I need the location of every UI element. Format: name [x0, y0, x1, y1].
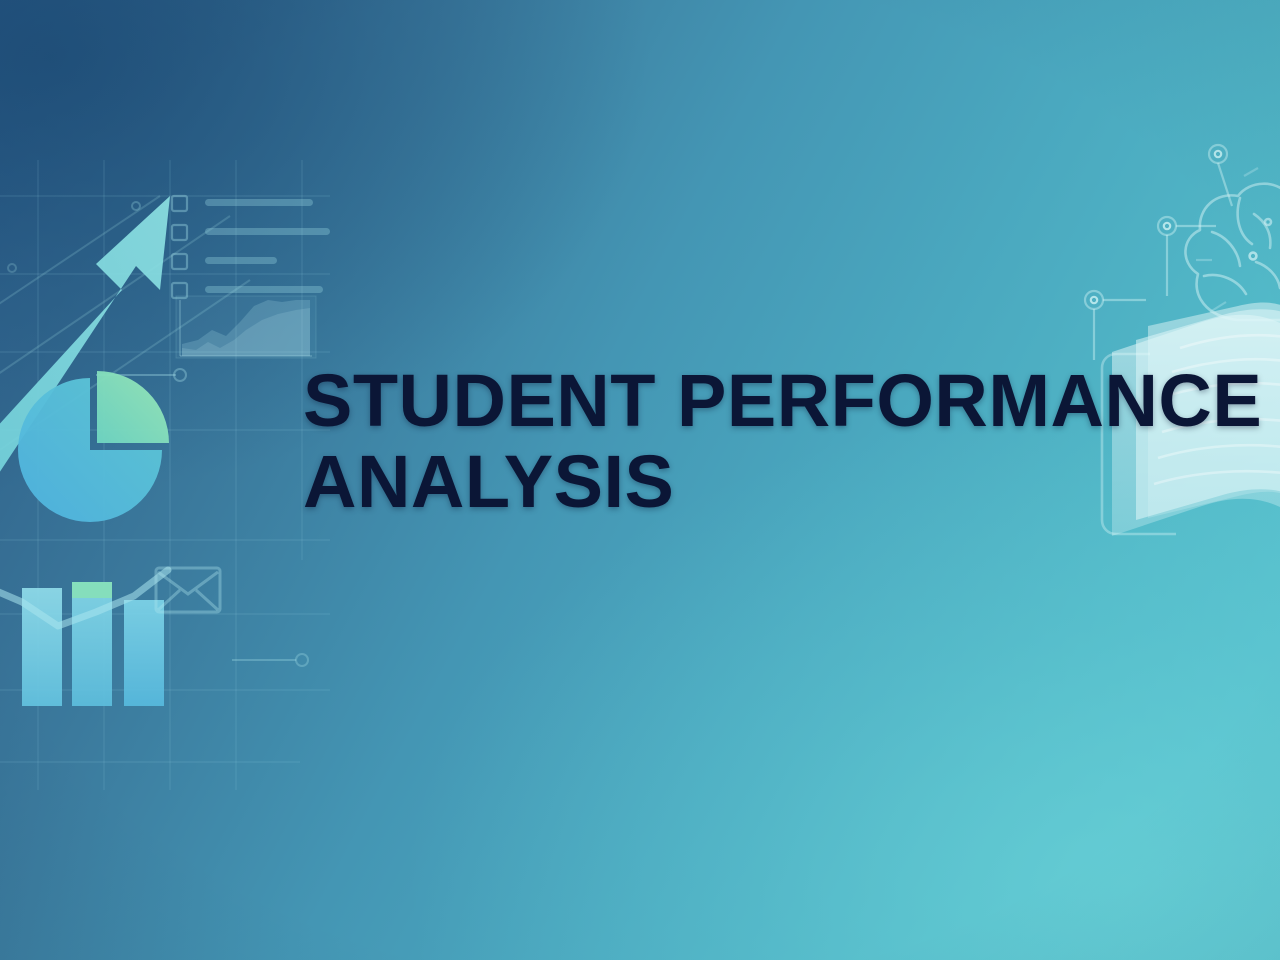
presentation-slide: STUDENT PERFORMANCE ANALYSIS	[0, 0, 1280, 960]
slide-title: STUDENT PERFORMANCE ANALYSIS	[303, 364, 1280, 519]
slide-title-line-2: ANALYSIS	[303, 445, 1280, 518]
slide-title-line-1: STUDENT PERFORMANCE	[303, 364, 1280, 437]
